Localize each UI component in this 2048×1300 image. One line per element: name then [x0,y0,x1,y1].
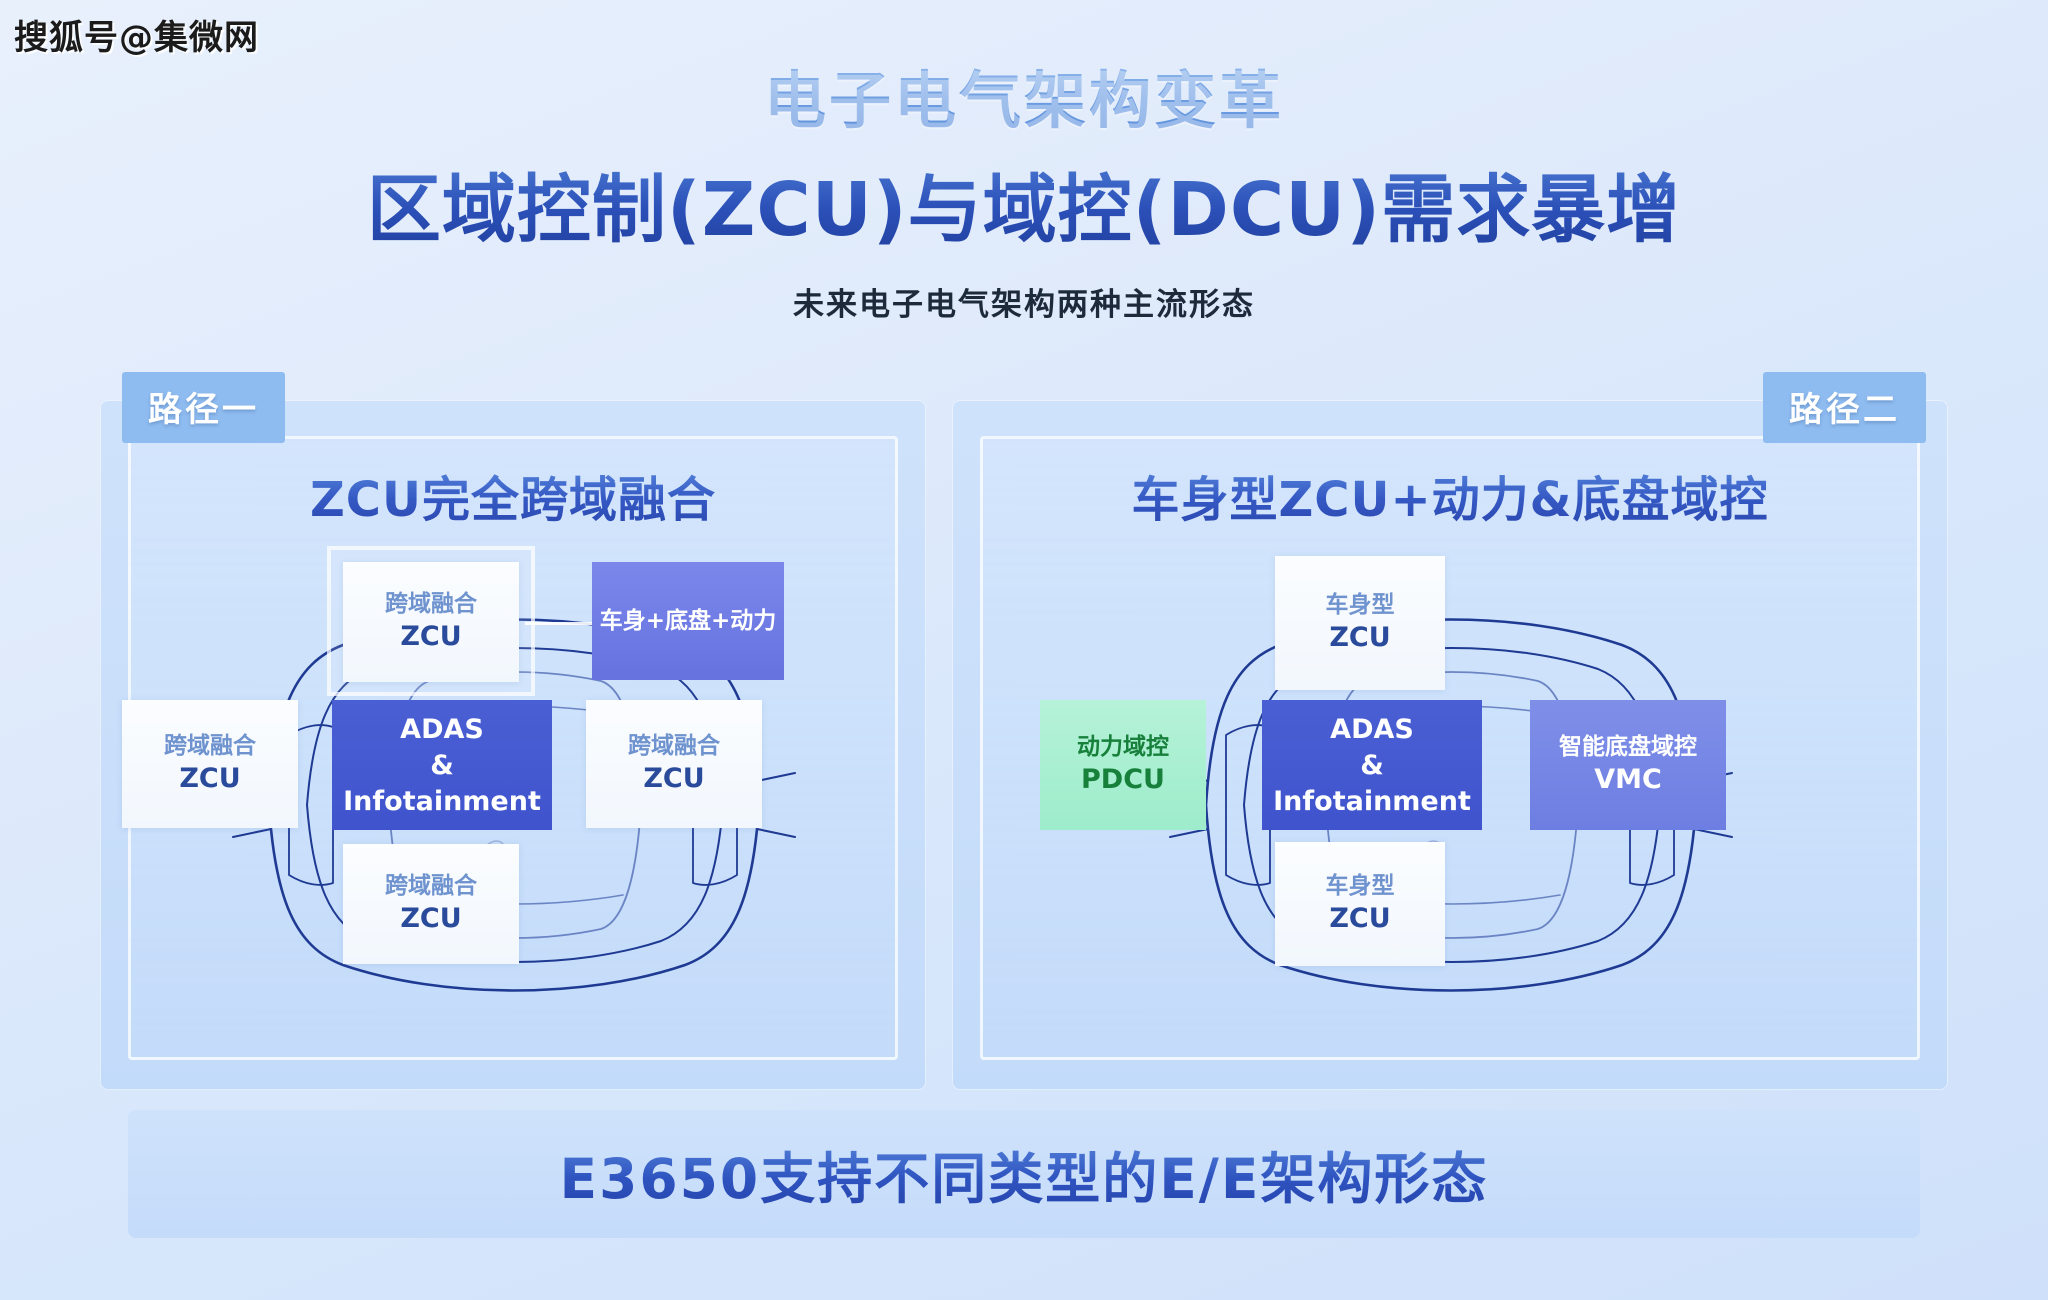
bottom-banner-text: E3650支持不同类型的E/E架构形态 [560,1134,1489,1214]
node-body-zcu-rear[interactable]: 车身型 ZCU [1275,842,1445,966]
front-node-connector [525,622,597,625]
node-adas-line2: & [1360,750,1384,783]
node-adas-line3: Infotainment [1273,786,1471,819]
node-zcu-rear-line1: 跨域融合 [385,872,477,900]
panel-one-heading: ZCU完全跨域融合 [100,460,926,530]
page-subtitle: 未来电子电气架构两种主流形态 [0,279,2048,324]
node-adas-line1: ADAS [1330,714,1414,747]
node-zcu-rear-line2: ZCU [400,903,461,936]
badge-path-one: 路径一 [122,372,285,443]
page-title-secondary: 区域控制(ZCU)与域控(DCU)需求暴增 [0,150,2048,257]
node-zcu-front[interactable]: 跨域融合 ZCU [343,562,519,682]
panel-path-one: 路径一 ZCU完全跨域融合 跨域融合 [100,400,926,1090]
node-zcu-right-line1: 跨域融合 [628,732,720,760]
node-zcu-front-line1: 跨域融合 [385,590,477,618]
node-body-zcu-front-line2: ZCU [1329,622,1390,655]
page-title-block: 电子电气架构变革 区域控制(ZCU)与域控(DCU)需求暴增 未来电子电气架构两… [0,50,2048,324]
node-adas-line1: ADAS [400,714,484,747]
panel-path-two: 路径二 车身型ZCU+动力&底盘域控 车身型 ZCU 动力域控 [952,400,1948,1090]
node-pdcu-line1: 动力域控 [1077,733,1169,761]
node-zcu-right-line2: ZCU [643,763,704,796]
panel-two-car-stage: 车身型 ZCU 动力域控 PDCU ADAS & Infotainment 智能… [952,540,1948,1070]
node-vmc-line1: 智能底盘域控 [1559,733,1697,761]
node-adas-infotainment[interactable]: ADAS & Infotainment [332,700,552,830]
node-pdcu-line2: PDCU [1081,764,1165,797]
node-pdcu[interactable]: 动力域控 PDCU [1040,700,1206,830]
node-zcu-front-line2: ZCU [400,621,461,654]
node-body-zcu-front[interactable]: 车身型 ZCU [1275,556,1445,690]
node-zcu-left[interactable]: 跨域融合 ZCU [122,700,298,828]
node-adas-infotainment[interactable]: ADAS & Infotainment [1262,700,1482,830]
node-zcu-left-line1: 跨域融合 [164,732,256,760]
panel-one-car-stage: 跨域融合 ZCU 车身+底盘+动力 跨域融合 ZCU ADAS & Infota… [100,540,926,1070]
node-adas-line3: Infotainment [343,786,541,819]
panel-two-heading: 车身型ZCU+动力&底盘域控 [952,460,1948,530]
node-domains-tag-label: 车身+底盘+动力 [600,607,777,635]
node-body-zcu-rear-line2: ZCU [1329,903,1390,936]
node-zcu-right[interactable]: 跨域融合 ZCU [586,700,762,828]
page-title-primary: 电子电气架构变革 [0,50,2048,140]
badge-path-two: 路径二 [1763,372,1926,443]
bottom-banner: E3650支持不同类型的E/E架构形态 [128,1110,1920,1238]
node-adas-line2: & [430,750,454,783]
node-zcu-left-line2: ZCU [179,763,240,796]
node-domains-tag[interactable]: 车身+底盘+动力 [592,562,784,680]
node-body-zcu-front-line1: 车身型 [1326,591,1395,619]
node-zcu-rear[interactable]: 跨域融合 ZCU [343,844,519,964]
node-vmc-line2: VMC [1594,764,1662,797]
node-body-zcu-rear-line1: 车身型 [1326,872,1395,900]
node-vmc[interactable]: 智能底盘域控 VMC [1530,700,1726,830]
